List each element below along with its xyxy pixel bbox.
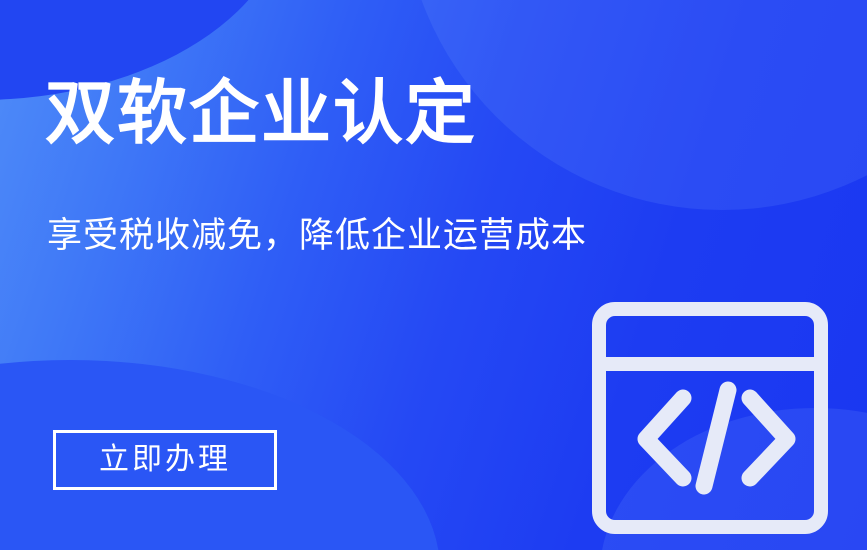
apply-now-button[interactable]: 立即办理 [53, 430, 277, 490]
banner-title: 双软企业认定 [45, 78, 477, 148]
promo-banner: 双软企业认定 享受税收减免，降低企业运营成本 立即办理 [0, 0, 867, 550]
code-window-icon [592, 302, 828, 534]
banner-subtitle: 享受税收减免，降低企业运营成本 [47, 216, 587, 256]
